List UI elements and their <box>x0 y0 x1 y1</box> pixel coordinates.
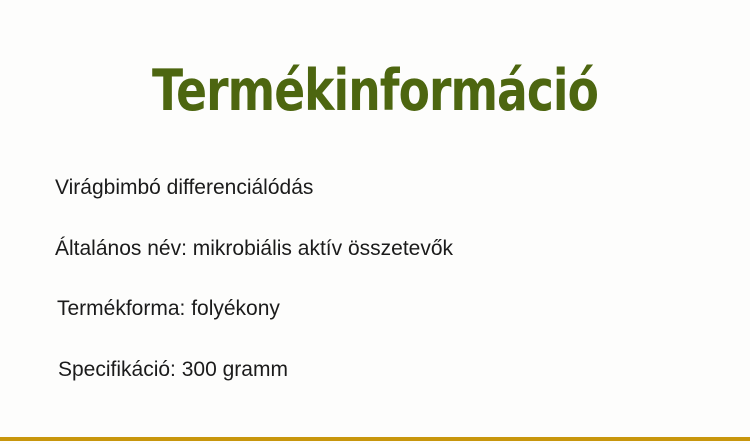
spec-line-specification: Specifikáció: 300 gramm <box>58 358 288 382</box>
spec-line-product-form: Termékforma: folyékony <box>57 297 280 321</box>
spec-line-flower-bud: Virágbimbó differenciálódás <box>55 176 313 200</box>
product-info-panel: Termékinformáció Virágbimbó differenciál… <box>0 0 750 444</box>
bottom-accent-bar <box>0 437 750 441</box>
spec-line-common-name: Általános név: mikrobiális aktív összete… <box>55 237 453 261</box>
spec-list: Virágbimbó differenciálódás Általános né… <box>0 0 750 444</box>
